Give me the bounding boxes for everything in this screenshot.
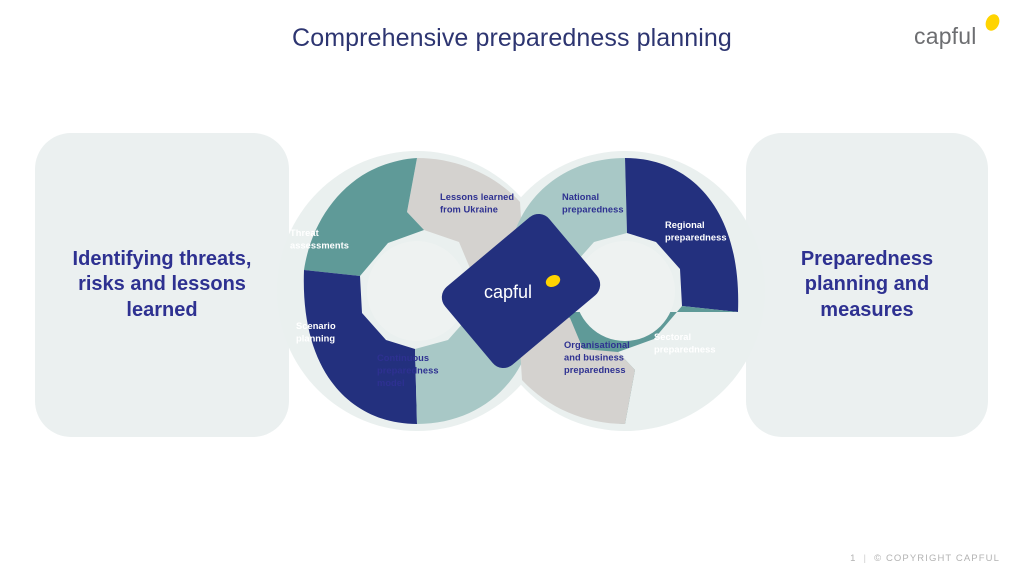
center-capful-text: capful [484,282,532,302]
brand-logo: capful [914,14,1000,50]
infinity-cycle-diagram: Lessons learned from Ukraine Threat asse… [276,150,766,432]
panel-preparedness-planning: Preparedness planning and measures [746,133,988,437]
panel-left-label: Identifying threats, risks and lessons l… [55,247,270,324]
slide-footer: 1 | © COPYRIGHT CAPFUL [850,553,1000,564]
label-organisational-and-business-preparedness: Organisational and business preparedness [564,340,632,375]
panel-right-label: Preparedness planning and measures [783,247,951,324]
footer-divider: | [864,553,868,564]
copyright-notice: © COPYRIGHT CAPFUL [874,553,1000,564]
panel-identifying-threats: Identifying threats, risks and lessons l… [35,133,289,437]
page-title: Comprehensive preparedness planning [0,24,1024,53]
brand-wordmark: capful [914,25,977,48]
page-number: 1 [850,553,856,564]
yellow-dot-icon [983,12,1002,33]
